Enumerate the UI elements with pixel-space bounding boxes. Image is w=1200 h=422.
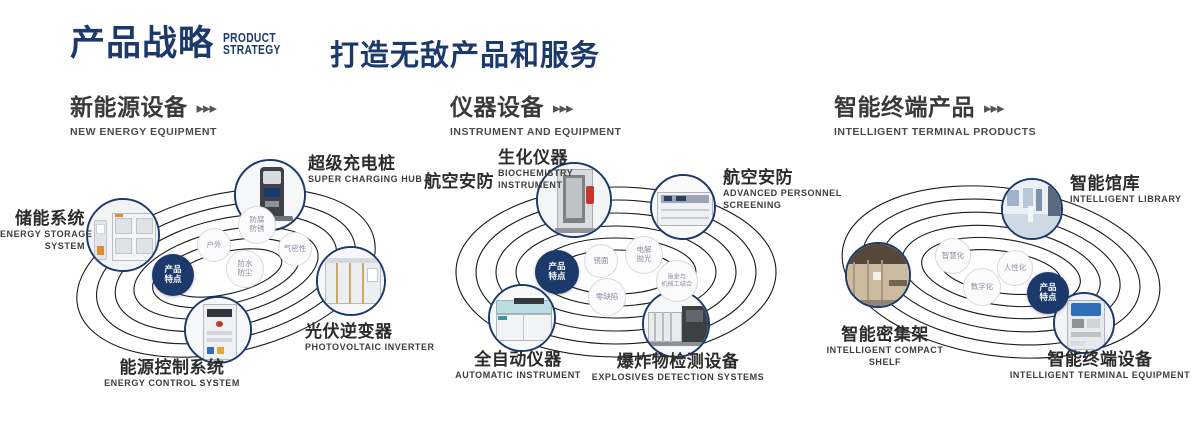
label-en-1: BIOCHEMISTRY xyxy=(498,168,573,179)
feature-bubble-zero-defect: 零缺陷 xyxy=(588,278,626,316)
chevron-right-icon: ▸▸▸ xyxy=(553,99,573,117)
label-cn: 生化仪器 xyxy=(498,148,573,167)
label-intelligent-library: 智能馆库 INTELLIGENT LIBRARY xyxy=(1070,174,1182,205)
feature-bubble-waterproof: 防水 防尘 xyxy=(226,250,264,288)
photovoltaic-inverter-photo xyxy=(318,248,384,314)
feature-bubble-digital: 数字化 xyxy=(963,268,1001,306)
label-automatic-instrument: 全自动仪器 AUTOMATIC INSTRUMENT xyxy=(418,350,618,381)
poster-canvas: 产品战略 PRODUCT STRATEGY 打造无敌产品和服务 新能源设备 ▸▸… xyxy=(0,0,1200,422)
node-circle-advanced-personnel-screening[interactable] xyxy=(650,174,716,240)
automatic-instrument-photo xyxy=(490,286,554,350)
feature-bubble-mirror-finish: 镜面 xyxy=(584,244,618,278)
label-en-1: INTELLIGENT COMPACT xyxy=(795,345,975,356)
feature-line1: 智慧化 xyxy=(942,252,965,261)
feature-bubble-intelligent: 智慧化 xyxy=(935,238,971,274)
page-title-english: PRODUCT STRATEGY xyxy=(223,32,281,56)
feature-bubble-core: 产品 特点 xyxy=(535,250,579,294)
feature-bubble-core: 产品 特点 xyxy=(1027,272,1069,314)
section-title-en: NEW ENERGY EQUIPMENT xyxy=(70,126,217,138)
label-en-2: SYSTEM xyxy=(0,241,85,252)
feature-line1: 户外 xyxy=(207,241,222,250)
feature-line1: 镜面 xyxy=(594,257,609,266)
screening-equipment-photo xyxy=(652,176,714,238)
energy-control-photo xyxy=(186,298,250,362)
section-title-en: INSTRUMENT AND EQUIPMENT xyxy=(450,126,621,138)
label-en-2: SHELF xyxy=(795,357,975,368)
feature-line2: 抛光 xyxy=(637,255,652,264)
page-title-english-line2: STRATEGY xyxy=(223,44,281,56)
feature-core-line2: 特点 xyxy=(548,272,565,282)
node-circle-photovoltaic-inverter[interactable] xyxy=(316,246,386,316)
cluster-new-energy: 储能系统 ENERGY STORAGE SYSTEM 超级充电桩 SUPER C… xyxy=(40,150,420,400)
node-circle-intelligent-library[interactable] xyxy=(1001,178,1063,240)
section-title-new-energy: 新能源设备 ▸▸▸ NEW ENERGY EQUIPMENT xyxy=(70,96,217,138)
label-cn: 能源控制系统 xyxy=(82,358,262,377)
label-cn: 航空安防 xyxy=(404,172,494,191)
feature-bubble-anticorrosion: 防腐 防锈 xyxy=(238,206,276,244)
label-cn: 全自动仪器 xyxy=(418,350,618,369)
intelligent-library-photo xyxy=(1003,180,1061,238)
page-subtitle: 打造无敌产品和服务 xyxy=(330,32,600,74)
label-cn: 智能终端设备 xyxy=(1000,350,1200,369)
section-title-cn: 智能终端产品 xyxy=(834,96,975,119)
label-energy-storage: 储能系统 ENERGY STORAGE SYSTEM xyxy=(0,209,85,253)
feature-core-line2: 特点 xyxy=(1039,293,1056,303)
label-intelligent-terminal-equipment: 智能终端设备 INTELLIGENT TERMINAL EQUIPMENT xyxy=(1000,350,1200,381)
feature-core-line2: 特点 xyxy=(164,275,181,285)
section-title-cn: 新能源设备 xyxy=(70,96,188,119)
label-biochemistry-instrument: 生化仪器 BIOCHEMISTRY INSTRUMENT xyxy=(498,148,573,192)
node-circle-energy-storage[interactable] xyxy=(86,198,160,272)
label-en-1: ENERGY CONTROL SYSTEM xyxy=(82,378,262,389)
feature-bubble-humanized: 人性化 xyxy=(997,250,1033,286)
feature-line1: 零缺陷 xyxy=(596,293,619,302)
node-circle-automatic-instrument[interactable] xyxy=(488,284,556,352)
feature-bubble-outdoor: 户外 xyxy=(197,228,231,262)
label-en-2: INSTRUMENT xyxy=(498,180,573,191)
label-intelligent-compact-shelf: 智能密集架 INTELLIGENT COMPACT SHELF xyxy=(795,325,975,369)
label-en-1: PHOTOVOLTAIC INVERTER xyxy=(305,342,435,353)
chevron-right-icon: ▸▸▸ xyxy=(984,99,1004,117)
section-title-cn: 仪器设备 xyxy=(450,96,544,119)
feature-line1: 数字化 xyxy=(971,283,994,292)
node-circle-intelligent-compact-shelf[interactable] xyxy=(845,242,911,308)
chevron-right-icon: ▸▸▸ xyxy=(197,99,217,117)
poster-header: 产品战略 PRODUCT STRATEGY xyxy=(70,26,293,61)
label-en-1: INTELLIGENT LIBRARY xyxy=(1070,194,1182,205)
feature-line2: 防锈 xyxy=(250,225,265,234)
section-title-intelligent-terminal: 智能终端产品 ▸▸▸ INTELLIGENT TERMINAL PRODUCTS xyxy=(834,96,1036,138)
feature-bubble-electropolishing: 电解 抛光 xyxy=(625,236,663,274)
feature-line2: 防尘 xyxy=(238,269,253,278)
label-photovoltaic-inverter: 光伏逆变器 PHOTOVOLTAIC INVERTER xyxy=(305,322,435,353)
cluster-instrument: 航空安防 生化仪器 BIOCHEMISTRY INSTRUMENT xyxy=(420,150,810,400)
feature-bubble-airtightness: 气密性 xyxy=(278,232,312,266)
label-en-1: ENERGY STORAGE xyxy=(0,229,85,240)
feature-bubble-core: 产品 特点 xyxy=(152,254,194,296)
label-cn: 超级充电桩 xyxy=(308,154,422,173)
label-en-1: AUTOMATIC INSTRUMENT xyxy=(418,370,618,381)
section-title-en: INTELLIGENT TERMINAL PRODUCTS xyxy=(834,126,1036,138)
feature-line1: 人性化 xyxy=(1004,264,1027,273)
page-title: 产品战略 xyxy=(70,26,214,61)
feature-line1: 气密性 xyxy=(284,245,307,254)
label-cn: 储能系统 xyxy=(0,209,85,228)
label-aviation-security-left: 航空安防 xyxy=(404,172,494,191)
label-en-1: INTELLIGENT TERMINAL EQUIPMENT xyxy=(1000,370,1200,381)
energy-storage-photo xyxy=(88,200,158,270)
feature-bubble-sheet-metal: 钣金与 机械工结合 xyxy=(656,260,698,302)
label-cn: 智能密集架 xyxy=(795,325,975,344)
label-cn: 智能馆库 xyxy=(1070,174,1182,193)
feature-line2: 机械工结合 xyxy=(662,281,693,288)
section-title-instrument: 仪器设备 ▸▸▸ INSTRUMENT AND EQUIPMENT xyxy=(450,96,621,138)
intelligent-compact-shelf-photo xyxy=(847,244,909,306)
cluster-intelligent-terminal: 智能馆库 INTELLIGENT LIBRARY 智能终端设备 INTELLIG… xyxy=(805,150,1200,400)
label-cn: 光伏逆变器 xyxy=(305,322,435,341)
node-circle-energy-control-system[interactable] xyxy=(184,296,252,364)
label-energy-control-system: 能源控制系统 ENERGY CONTROL SYSTEM xyxy=(82,358,262,389)
